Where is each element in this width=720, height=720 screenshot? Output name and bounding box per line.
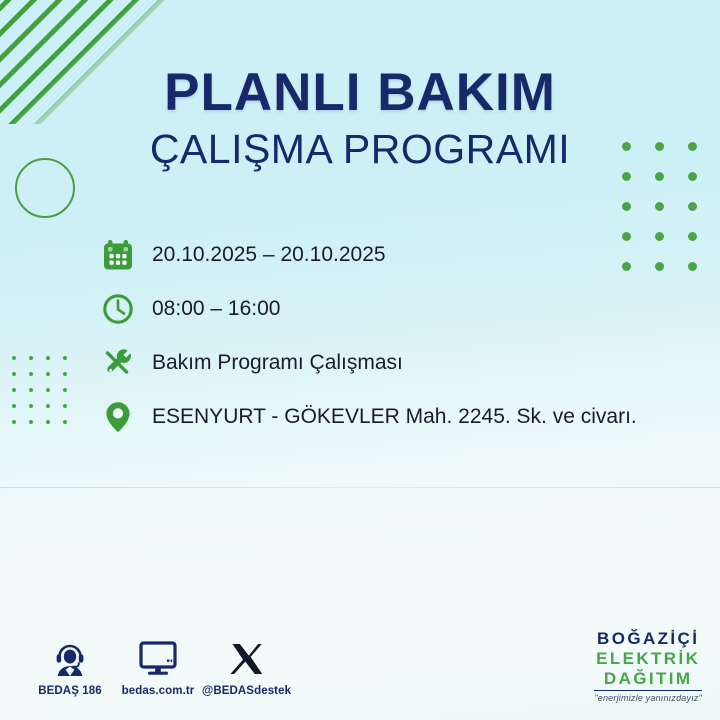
title-main: PLANLI BAKIM (0, 66, 720, 119)
tools-icon (96, 341, 140, 385)
monitor-icon (114, 638, 202, 678)
detail-row-work-type: Bakım Programı Çalışması (96, 336, 696, 390)
dot-grid-left-decoration (12, 356, 80, 436)
contact-label-x: @BEDASdestek (202, 685, 290, 697)
detail-text-work-type: Bakım Programı Çalışması (152, 351, 403, 375)
title-subtitle: ÇALIŞMA PROGRAMI (0, 129, 720, 170)
contact-x[interactable]: @BEDASdestek (202, 638, 290, 697)
detail-text-date: 20.10.2025 – 20.10.2025 (152, 243, 386, 267)
brand-tagline: "enerjimizle yanınızdayız" (594, 694, 702, 703)
contact-phone[interactable]: BEDAŞ 186 (26, 638, 114, 697)
calendar-icon (96, 233, 140, 277)
page-title: PLANLI BAKIM ÇALIŞMA PROGRAMI (0, 66, 720, 170)
footer-contacts: BEDAŞ 186 bedas.com.tr @BEDASdestek (26, 638, 290, 697)
detail-text-location: ESENYURT - GÖKEVLER Mah. 2245. Sk. ve ci… (152, 405, 637, 429)
maintenance-details-list: 20.10.2025 – 20.10.2025 08:00 – 16:00 (96, 228, 696, 444)
detail-text-time: 08:00 – 16:00 (152, 297, 280, 321)
brand-line-2: ELEKTRİK (594, 650, 702, 667)
planned-maintenance-poster: PLANLI BAKIM ÇALIŞMA PROGRAMI (0, 0, 720, 720)
brand-divider (594, 690, 702, 691)
brand-logo: BOĞAZİÇİ ELEKTRİK DAĞITIM "enerjimizle y… (594, 630, 702, 703)
contact-label-website: bedas.com.tr (114, 685, 202, 697)
detail-row-date: 20.10.2025 – 20.10.2025 (96, 228, 696, 282)
detail-row-time: 08:00 – 16:00 (96, 282, 696, 336)
horizon-line-decoration (0, 487, 720, 488)
support-agent-icon (26, 638, 114, 678)
brand-line-3: DAĞITIM (594, 670, 702, 687)
contact-website[interactable]: bedas.com.tr (114, 638, 202, 697)
clock-icon (96, 287, 140, 331)
contact-label-phone: BEDAŞ 186 (26, 685, 114, 697)
detail-row-location: ESENYURT - GÖKEVLER Mah. 2245. Sk. ve ci… (96, 390, 696, 444)
brand-line-1: BOĞAZİÇİ (594, 630, 702, 647)
location-pin-icon (96, 395, 140, 439)
x-logo-icon (202, 638, 290, 678)
